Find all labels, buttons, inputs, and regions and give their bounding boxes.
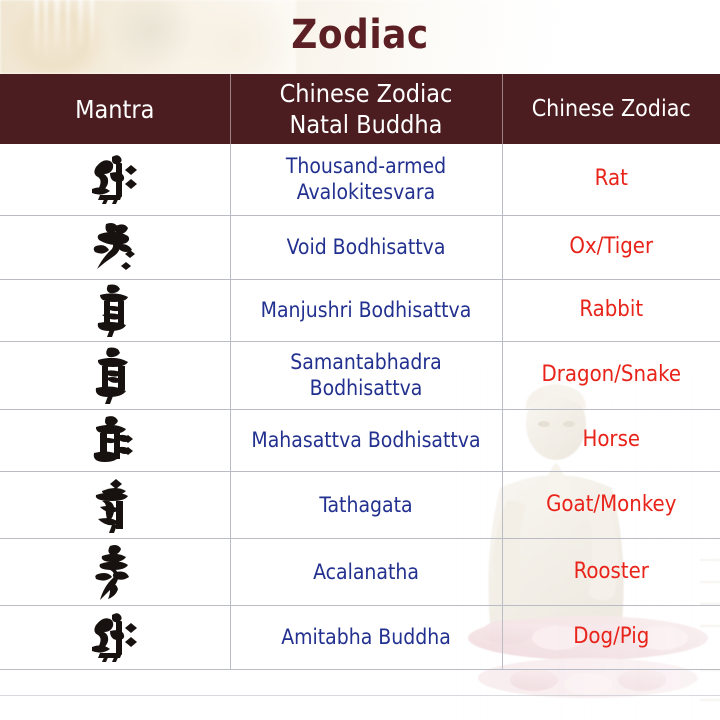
zodiac-sign-cell: Ox/Tiger xyxy=(502,215,720,279)
natal-buddha-name: Samantabhadra Bodhisattva xyxy=(237,349,496,401)
zodiac-sign-cell: Goat/Monkey xyxy=(502,471,720,538)
mantra-cell xyxy=(0,279,230,341)
natal-buddha-cell: Thousand-armed Avalokitesvara xyxy=(230,144,502,215)
natal-buddha-name: Acalanatha xyxy=(237,559,496,585)
table-row: Thousand-armed Avalokitesvara Rat xyxy=(0,144,720,215)
table-row: Samantabhadra Bodhisattva Dragon/Snake xyxy=(0,341,720,409)
mantra-cell xyxy=(0,144,230,215)
mantra-cell xyxy=(0,215,230,279)
natal-buddha-line1: Thousand-armed xyxy=(286,154,446,178)
seed-syllable-am-icon xyxy=(86,346,144,404)
bottom-rule xyxy=(0,695,720,696)
seed-syllable-bhrum-icon xyxy=(86,477,144,533)
natal-buddha-cell: Amitabha Buddha xyxy=(230,605,502,669)
seed-syllable-dhih-icon xyxy=(86,283,144,337)
mantra-cell xyxy=(0,605,230,669)
table-header-row: Mantra Chinese Zodiac Natal Buddha Chine… xyxy=(0,74,720,144)
zodiac-sign-cell: Dog/Pig xyxy=(502,605,720,669)
zodiac-table-page: Zodiac Mantra Chinese Zodiac Natal Buddh… xyxy=(0,0,720,720)
mantra-cell xyxy=(0,471,230,538)
zodiac-sign: Ox/Tiger xyxy=(509,234,715,260)
column-header-chinese-zodiac: Chinese Zodiac xyxy=(502,74,720,144)
natal-buddha-line2: Bodhisattva xyxy=(310,376,423,400)
zodiac-sign: Rooster xyxy=(509,559,715,585)
natal-buddha-name: Void Bodhisattva xyxy=(237,234,496,260)
table-row: Manjushri Bodhisattva Rabbit xyxy=(0,279,720,341)
column-header-mantra: Mantra xyxy=(0,74,230,144)
natal-buddha-cell: Manjushri Bodhisattva xyxy=(230,279,502,341)
column-header-natal-buddha-line2: Natal Buddha xyxy=(290,110,443,139)
zodiac-sign: Dog/Pig xyxy=(509,624,715,650)
zodiac-sign-cell: Dragon/Snake xyxy=(502,341,720,409)
table-row: Void Bodhisattva Ox/Tiger xyxy=(0,215,720,279)
seed-syllable-sa-icon xyxy=(86,413,144,467)
table-row: Amitabha Buddha Dog/Pig xyxy=(0,605,720,669)
natal-buddha-cell: Tathagata xyxy=(230,471,502,538)
table-row: Acalanatha Rooster xyxy=(0,538,720,605)
zodiac-sign-cell: Rooster xyxy=(502,538,720,605)
zodiac-sign: Rat xyxy=(509,166,715,192)
seed-syllable-a-icon xyxy=(86,220,144,274)
zodiac-sign-cell: Rabbit xyxy=(502,279,720,341)
natal-buddha-cell: Samantabhadra Bodhisattva xyxy=(230,341,502,409)
zodiac-sign: Rabbit xyxy=(509,297,715,323)
table-header: Mantra Chinese Zodiac Natal Buddha Chine… xyxy=(0,74,720,144)
zodiac-sign: Horse xyxy=(509,427,715,453)
zodiac-sign-cell: Rat xyxy=(502,144,720,215)
zodiac-table: Mantra Chinese Zodiac Natal Buddha Chine… xyxy=(0,74,720,670)
column-header-natal-buddha-line1: Chinese Zodiac xyxy=(280,79,453,108)
page-title: Zodiac xyxy=(0,8,720,62)
zodiac-sign-cell: Horse xyxy=(502,409,720,471)
column-header-natal-buddha: Chinese Zodiac Natal Buddha xyxy=(230,74,502,144)
table-row: Tathagata Goat/Monkey xyxy=(0,471,720,538)
natal-buddha-line2: Avalokitesvara xyxy=(297,180,435,204)
seed-syllable-ham-icon xyxy=(86,544,144,600)
natal-buddha-name: Mahasattva Bodhisattva xyxy=(237,427,496,453)
natal-buddha-name: Manjushri Bodhisattva xyxy=(237,297,496,323)
seed-syllable-hrih-icon xyxy=(86,151,144,207)
natal-buddha-line1: Samantabhadra xyxy=(290,350,441,374)
zodiac-sign: Goat/Monkey xyxy=(509,492,715,518)
zodiac-sign: Dragon/Snake xyxy=(509,362,715,388)
natal-buddha-name: Thousand-armed Avalokitesvara xyxy=(237,153,496,205)
natal-buddha-cell: Acalanatha xyxy=(230,538,502,605)
natal-buddha-cell: Void Bodhisattva xyxy=(230,215,502,279)
natal-buddha-name: Amitabha Buddha xyxy=(237,624,496,650)
table-body: Thousand-armed Avalokitesvara Rat xyxy=(0,144,720,669)
mantra-cell xyxy=(0,341,230,409)
seed-syllable-hrih-2-icon xyxy=(86,609,144,665)
natal-buddha-name: Tathagata xyxy=(237,492,496,518)
mantra-cell xyxy=(0,538,230,605)
mantra-cell xyxy=(0,409,230,471)
table-row: Mahasattva Bodhisattva Horse xyxy=(0,409,720,471)
natal-buddha-cell: Mahasattva Bodhisattva xyxy=(230,409,502,471)
